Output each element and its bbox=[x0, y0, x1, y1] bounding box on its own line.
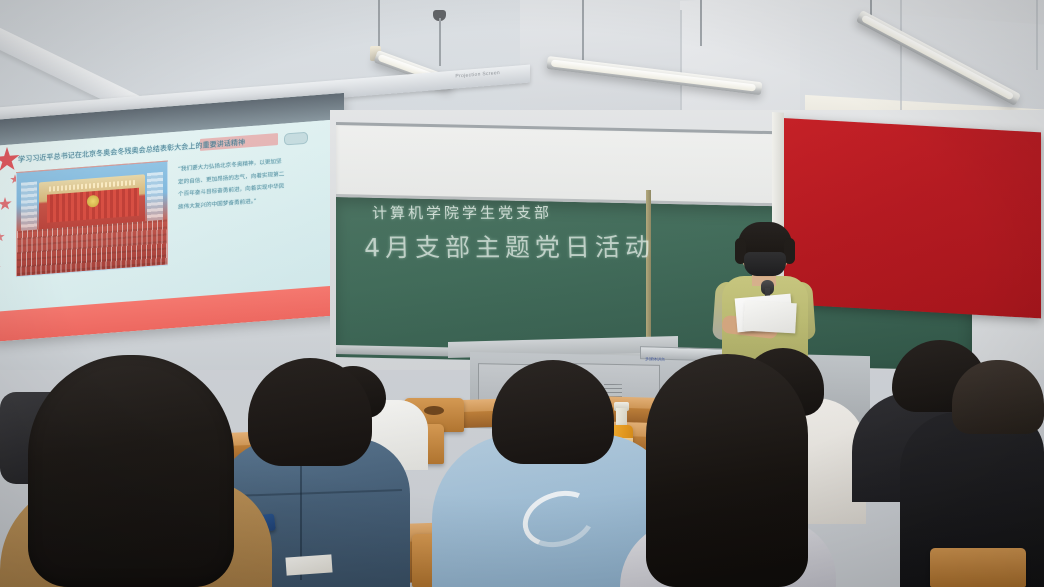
light-rod bbox=[439, 18, 441, 66]
chalkboard-heading: 计算机学院学生党支部 bbox=[372, 202, 553, 223]
party-flag bbox=[783, 118, 1041, 318]
classroom-photo: Projection Screen 学习习近平总书记在北京冬奥会冬残奥会总结表彰… bbox=[0, 0, 1044, 587]
presentation-slide: 学习习近平总书记在北京冬奥会冬残奥会总结表彰大会上的重要讲话精神 “我们要大力弘… bbox=[0, 119, 344, 314]
slide-quote-text: “我们要大力弘扬北京冬奥精神，以更加坚定的自信、更加昂扬的志气，向着实现第二个百… bbox=[178, 155, 286, 214]
chalkboard-subheading: 4月支部主题党日活动 bbox=[364, 228, 656, 265]
screen-housing-label: Projection Screen bbox=[455, 70, 500, 80]
slide-photo-great-hall bbox=[16, 160, 168, 277]
chair-back bbox=[930, 548, 1026, 587]
hall-pillar bbox=[21, 182, 37, 233]
speaker-face-mask bbox=[744, 252, 786, 276]
star-decoration-icon bbox=[0, 231, 5, 243]
star-decoration-icon bbox=[0, 196, 12, 211]
light-rod bbox=[582, 0, 584, 60]
shirt-logo bbox=[515, 482, 602, 556]
projection-screen: 学习习近平总书记在北京冬奥会冬残奥会总结表彰大会上的重要讲话精神 “我们要大力弘… bbox=[0, 93, 344, 342]
wall-seam bbox=[1036, 0, 1038, 70]
student-long-hair-head bbox=[646, 354, 808, 587]
slide-title-badge bbox=[284, 132, 308, 146]
wall-seam bbox=[900, 0, 902, 120]
hall-pillar bbox=[147, 172, 163, 223]
chair-handle-hole bbox=[424, 406, 444, 415]
speech-script-papers bbox=[743, 301, 796, 334]
student-long-hair-front-head bbox=[28, 355, 234, 587]
notebook bbox=[285, 554, 332, 575]
star-decoration-icon bbox=[0, 263, 1, 273]
light-rod bbox=[378, 0, 380, 52]
console-label: 多媒体讲台 bbox=[645, 356, 665, 362]
student-far-right-head bbox=[952, 360, 1044, 434]
light-rod bbox=[700, 0, 702, 46]
star-decoration-icon bbox=[0, 146, 20, 174]
